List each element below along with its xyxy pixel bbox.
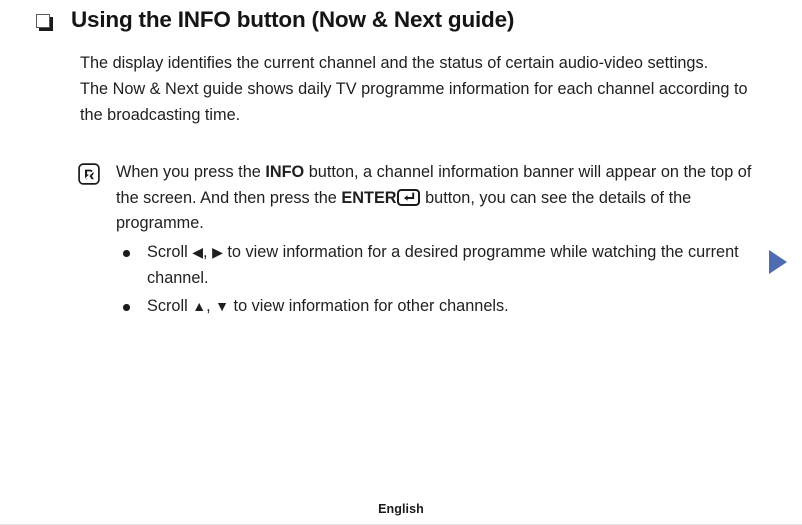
list-item: Scroll ◀, ▶ to view information for a de…: [120, 240, 760, 291]
arrow-right-icon: ▶: [212, 244, 223, 260]
bullet-2-text-part1: Scroll: [147, 297, 192, 315]
page-heading: Using the INFO button (Now & Next guide): [36, 6, 762, 35]
arrow-left-icon: ◀: [192, 244, 203, 260]
arrow-down-icon: ▼: [215, 298, 229, 314]
next-page-triangle-icon[interactable]: [769, 250, 787, 274]
page-footer: English: [0, 500, 802, 518]
note-text: When you press the INFO button, a channe…: [116, 160, 768, 237]
enter-return-key-icon: [397, 189, 420, 206]
intro-paragraphs: The display identifies the current chann…: [80, 50, 752, 128]
bullet-2-text-part2: to view information for other channels.: [229, 297, 509, 315]
bullet-2-separator: ,: [206, 297, 215, 315]
bullet-1-separator: ,: [203, 243, 212, 261]
scroll-instructions-list: Scroll ◀, ▶ to view information for a de…: [120, 240, 760, 323]
note-emphasis-info: INFO: [265, 163, 304, 181]
note-block: When you press the INFO button, a channe…: [78, 160, 768, 237]
note-pencil-icon: [78, 163, 100, 185]
page-title: Using the INFO button (Now & Next guide): [71, 6, 514, 35]
note-text-part1: When you press the: [116, 163, 265, 181]
footer-language-label: English: [378, 502, 424, 516]
manual-page: Using the INFO button (Now & Next guide)…: [0, 0, 802, 525]
hollow-square-shadow-icon: [36, 14, 53, 31]
bullet-1-text-part2: to view information for a desired progra…: [147, 243, 739, 287]
arrow-up-icon: ▲: [192, 298, 206, 314]
paragraph-now-next-guide: The Now & Next guide shows daily TV prog…: [80, 76, 752, 128]
list-item: Scroll ▲, ▼ to view information for othe…: [120, 294, 760, 320]
note-emphasis-enter: ENTER: [341, 189, 396, 207]
bullet-1-text-part1: Scroll: [147, 243, 192, 261]
paragraph-display-identifies: The display identifies the current chann…: [80, 50, 752, 76]
